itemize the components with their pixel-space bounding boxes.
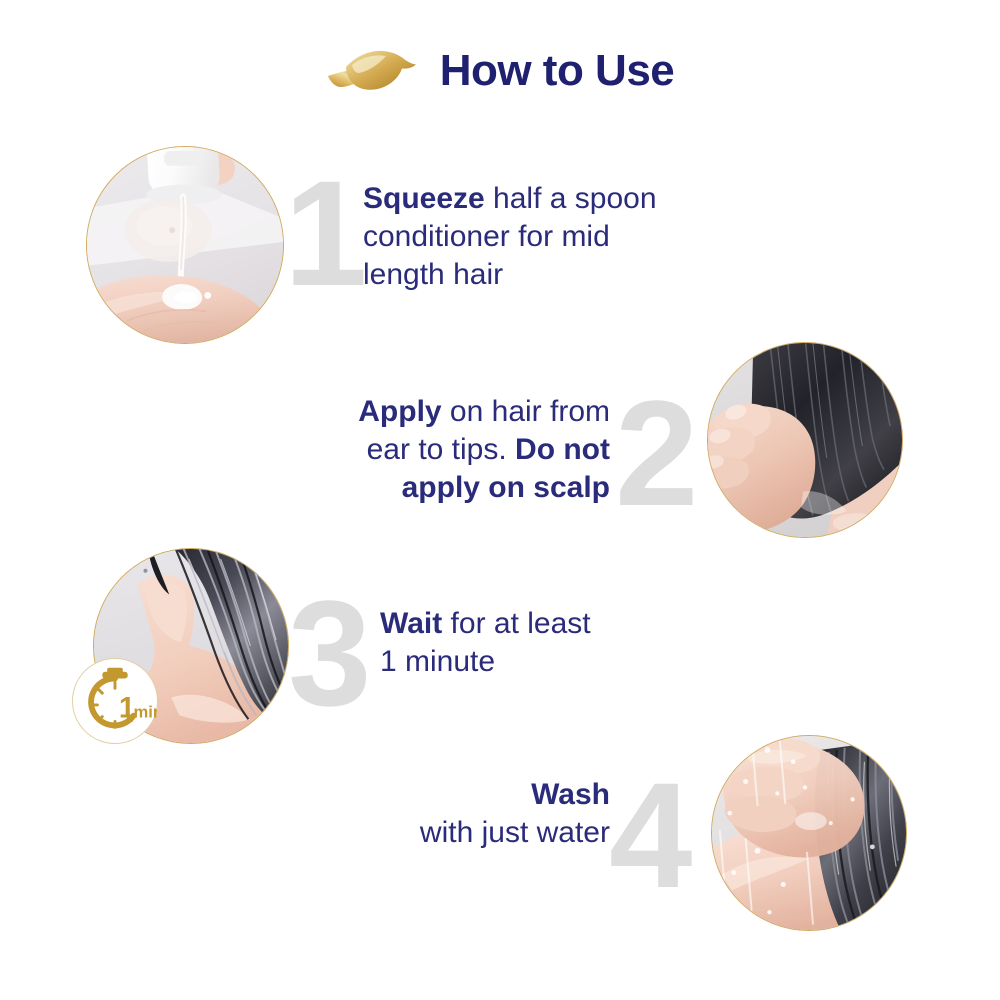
step-2-line2-rest: ear to tips. — [367, 433, 515, 466]
stopwatch-icon: 1 min — [73, 659, 157, 743]
step-3-keyword: Wait — [380, 607, 442, 640]
step-1-line1-rest: half a spoon — [485, 182, 657, 215]
header: How to Use — [0, 36, 1000, 106]
step-2-line2-bold: Do not — [515, 433, 610, 466]
step-2-line1-rest: on hair from — [442, 395, 610, 428]
step-3-text: Wait for at least 1 minute — [380, 605, 780, 681]
step-1-text: Squeeze half a spoon conditioner for mid… — [363, 180, 783, 293]
step-4-text: Wash with just water — [230, 776, 610, 852]
how-to-use-infographic: How to Use — [0, 0, 1000, 1000]
step-1-line2: conditioner for mid — [363, 220, 610, 253]
step-2-text: Apply on hair from ear to tips. Do not a… — [200, 393, 610, 506]
page-title: How to Use — [440, 49, 675, 93]
step-1-photo — [86, 146, 284, 344]
step-4-line2: with just water — [420, 816, 610, 849]
dove-bird-logo-icon — [326, 45, 418, 97]
step-1-line3: length hair — [363, 258, 503, 291]
step-1-number: 1 — [284, 158, 367, 308]
step-2-number: 2 — [615, 378, 698, 528]
step-2-photo — [707, 342, 903, 538]
step-2-keyword: Apply — [358, 395, 441, 428]
timer-badge-1-min: 1 min — [72, 658, 158, 744]
step-1-keyword: Squeeze — [363, 182, 485, 215]
step-2-line3-bold: apply on scalp — [402, 471, 610, 504]
step-4-number: 4 — [609, 760, 692, 910]
timer-unit: min — [134, 703, 157, 722]
step-4-photo — [711, 735, 907, 931]
step-4-keyword: Wash — [531, 778, 610, 811]
step-3-line2: 1 minute — [380, 645, 495, 678]
step-3-line1-rest: for at least — [442, 607, 590, 640]
step-3-number: 3 — [288, 578, 371, 728]
